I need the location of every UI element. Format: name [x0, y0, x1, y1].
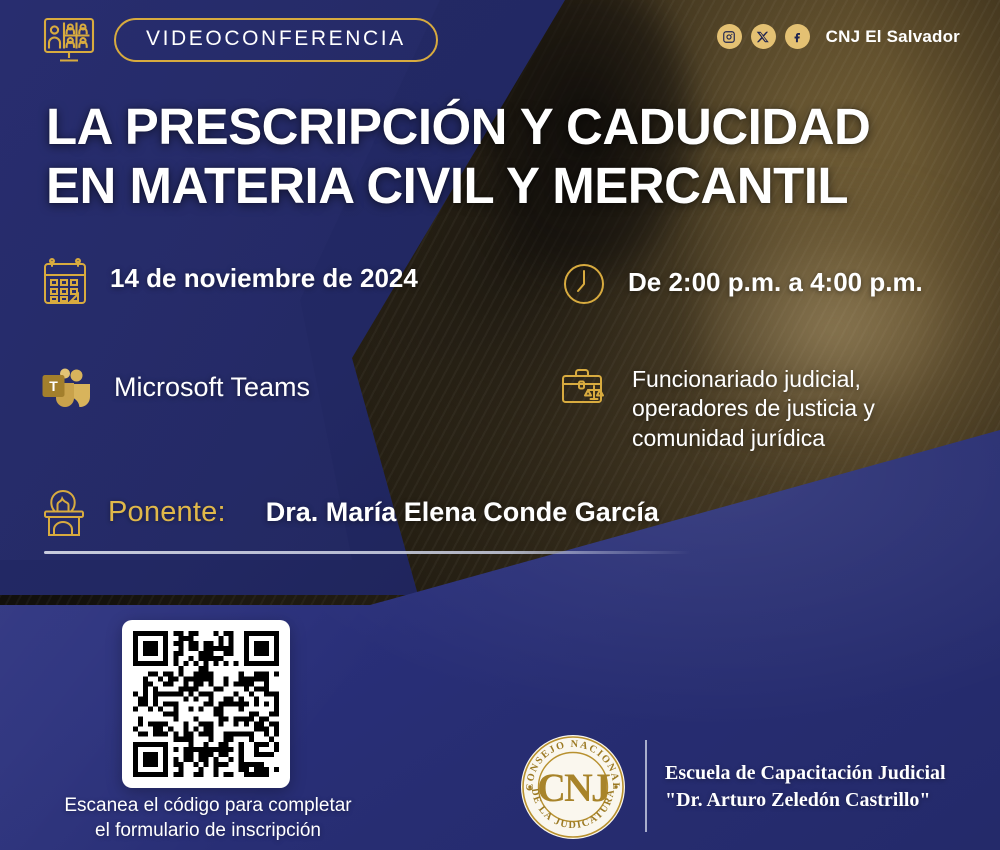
audience-value: Funcionariado judicial, operadores de ju…: [632, 365, 875, 453]
instagram-icon[interactable]: [717, 24, 742, 49]
detail-time: De 2:00 p.m. a 4:00 p.m.: [562, 262, 923, 306]
platform-value: Microsoft Teams: [114, 366, 310, 405]
facebook-icon[interactable]: [785, 24, 810, 49]
video-call-monitor-icon: [42, 16, 96, 64]
qr-caption: Escanea el código para completar el form…: [18, 793, 398, 843]
detail-speaker: Ponente: Dra. María Elena Conde García: [40, 485, 659, 539]
videoconference-badge: VIDEOCONFERENCIA: [114, 18, 438, 62]
videoconference-header: VIDEOCONFERENCIA: [42, 16, 438, 64]
x-twitter-icon[interactable]: [751, 24, 776, 49]
qr-caption-line-1: Escanea el código para completar: [64, 795, 351, 816]
speaker-name: Dra. María Elena Conde García: [266, 497, 659, 528]
social-media-row: CNJ El Salvador: [717, 24, 960, 49]
audience-line-3: comunidad jurídica: [632, 425, 825, 451]
svg-text:T: T: [49, 378, 58, 394]
flyer-canvas: VIDEOCONFERENCIA CNJ El Salvador LA PRES…: [0, 0, 1000, 850]
school-line-2: "Dr. Arturo Zeledón Castrillo": [665, 789, 931, 811]
microsoft-teams-icon: T: [42, 366, 92, 412]
audience-line-2: operadores de justicia y: [632, 395, 875, 421]
svg-text:CNJ: CNJ: [537, 765, 610, 810]
detail-date: 14 de noviembre de 2024: [42, 258, 418, 306]
qr-caption-line-2: el formulario de inscripción: [95, 820, 321, 841]
time-value: De 2:00 p.m. a 4:00 p.m.: [628, 262, 923, 299]
school-line-1: Escuela de Capacitación Judicial: [665, 762, 946, 784]
cnj-seal-icon: CONSEJO NACIONAL DE LA JUDICATURA CNJ: [519, 733, 627, 841]
title-line-1: LA PRESCRIPCIÓN Y CADUCIDAD: [46, 98, 870, 155]
section-divider: [44, 551, 690, 554]
detail-audience: Funcionariado judicial, operadores de ju…: [560, 365, 875, 453]
date-value: 14 de noviembre de 2024: [110, 258, 418, 295]
speaker-label: Ponente:: [108, 496, 226, 529]
detail-platform: T Microsoft Teams: [42, 366, 310, 412]
clock-icon: [562, 262, 606, 306]
page-title: LA PRESCRIPCIÓN Y CADUCIDAD EN MATERIA C…: [46, 97, 976, 215]
podium-speaker-icon: [40, 485, 88, 539]
qr-code[interactable]: [122, 620, 290, 788]
social-handle-label: CNJ El Salvador: [826, 27, 960, 47]
calendar-icon: [42, 258, 88, 306]
footer-vertical-divider: [645, 740, 647, 832]
title-line-2: EN MATERIA CIVIL Y MERCANTIL: [46, 156, 976, 215]
school-name: Escuela de Capacitación Judicial "Dr. Ar…: [665, 760, 985, 813]
briefcase-scales-icon: [560, 365, 610, 411]
audience-line-1: Funcionariado judicial,: [632, 366, 861, 392]
